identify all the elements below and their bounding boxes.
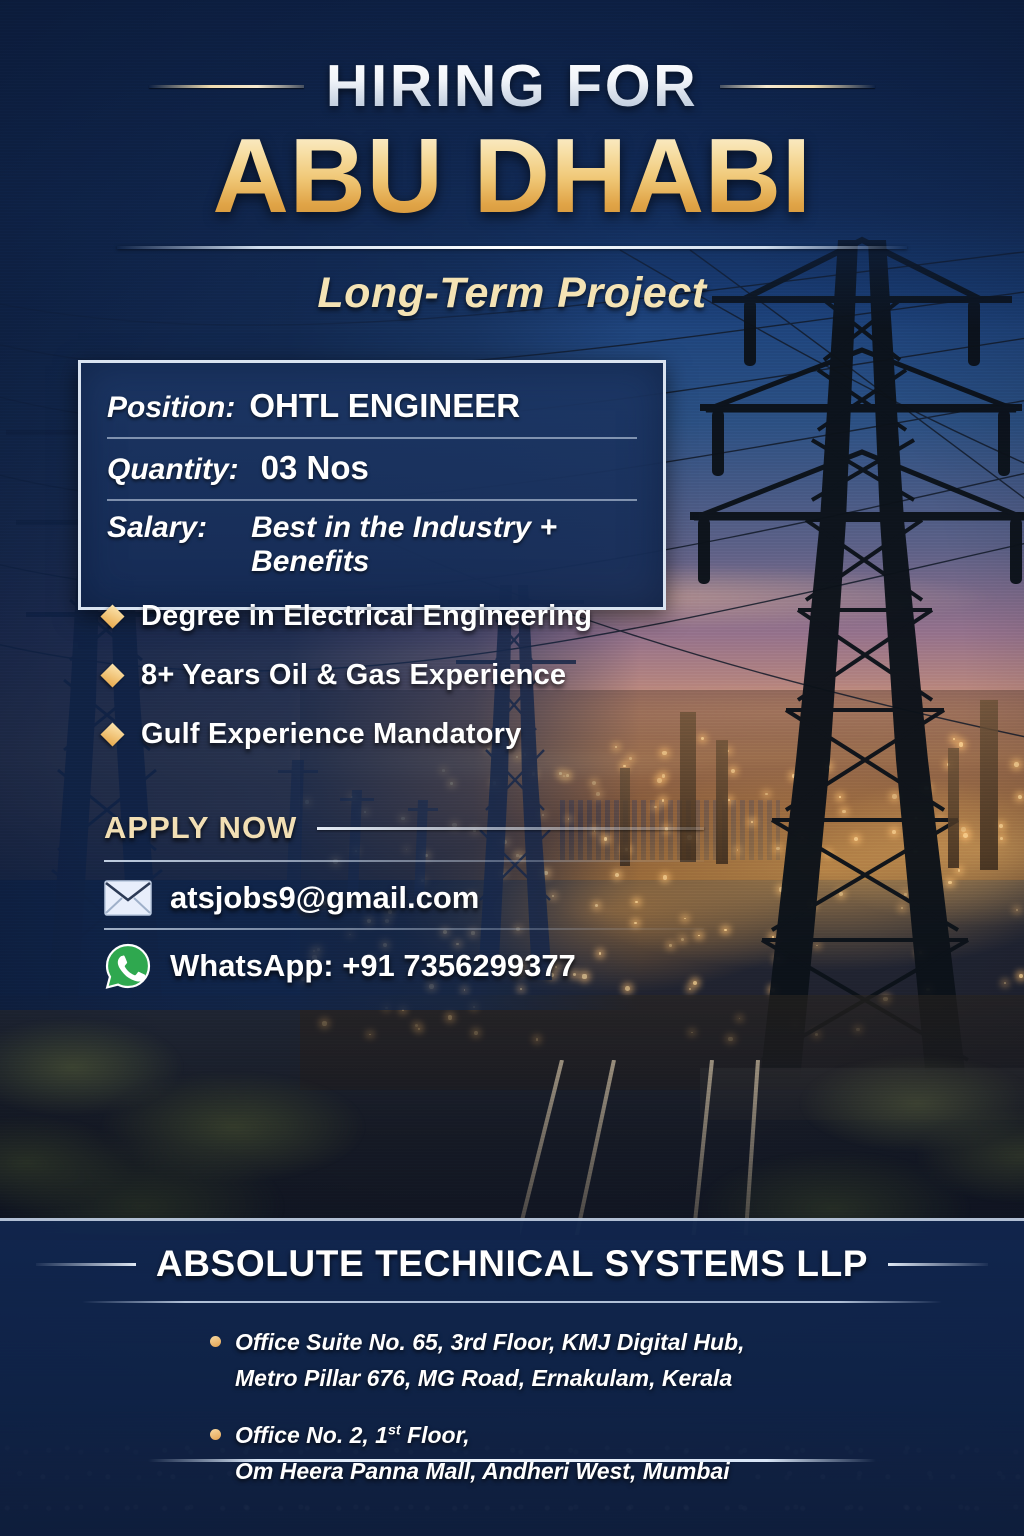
- apply-dash: [317, 827, 704, 830]
- address-list: Office Suite No. 65, 3rd Floor, KMJ Digi…: [0, 1325, 1024, 1490]
- email-address: atsjobs9@gmail.com: [170, 880, 479, 916]
- position-value: OHTL ENGINEER: [249, 387, 520, 425]
- footer-bottom-divider: [148, 1459, 876, 1462]
- requirement-item: Degree in Electrical Engineering: [104, 600, 624, 633]
- contact-list: atsjobs9@gmail.com WhatsApp: +91 7356299…: [104, 880, 704, 990]
- envelope-icon: [104, 880, 152, 916]
- contact-email-row[interactable]: atsjobs9@gmail.com: [104, 880, 704, 916]
- location-title: ABU DHABI: [0, 122, 1024, 230]
- requirement-text: 8+ Years Oil & Gas Experience: [141, 659, 566, 692]
- apply-section: APPLY NOW atsjobs9@gmail.com: [104, 810, 704, 1002]
- dot-bullet-icon: [210, 1336, 221, 1347]
- detail-row-quantity: Quantity: 03 Nos: [107, 437, 637, 499]
- address-item-kerala: Office Suite No. 65, 3rd Floor, KMJ Digi…: [210, 1325, 1024, 1396]
- address-line-1: Office Suite No. 65, 3rd Floor, KMJ Digi…: [235, 1325, 744, 1361]
- dot-bullet-icon: [210, 1429, 221, 1440]
- company-dash-left: [36, 1263, 136, 1266]
- hiring-label: HIRING FOR: [326, 52, 698, 120]
- job-poster: HIRING FOR ABU DHABI Long-Term Project P…: [0, 0, 1024, 1536]
- company-dash-right: [888, 1263, 988, 1266]
- address-line-1-pre: Office No. 2, 1: [235, 1422, 388, 1448]
- address-line-2: Metro Pillar 676, MG Road, Ernakulam, Ke…: [235, 1365, 732, 1391]
- position-label: Position:: [107, 391, 235, 425]
- project-subtitle: Long-Term Project: [0, 269, 1024, 318]
- address-line-1: Office No. 2, 1st Floor,: [235, 1418, 470, 1454]
- hiring-dash-right: [720, 85, 875, 88]
- diamond-bullet-icon: [100, 604, 124, 628]
- detail-row-salary: Salary: Best in the Industry + Benefits: [107, 499, 637, 591]
- quantity-label: Quantity:: [107, 453, 239, 487]
- apply-now-title: APPLY NOW: [104, 810, 297, 846]
- address-line-1-post: Floor,: [401, 1422, 470, 1448]
- header-divider: [117, 246, 907, 249]
- contact-whatsapp-row[interactable]: WhatsApp: +91 7356299377: [104, 942, 704, 990]
- diamond-bullet-icon: [100, 663, 124, 687]
- detail-row-position: Position: OHTL ENGINEER: [107, 377, 637, 437]
- requirements-list: Degree in Electrical Engineering 8+ Year…: [104, 600, 624, 777]
- requirement-item: Gulf Experience Mandatory: [104, 718, 624, 751]
- quantity-value: 03 Nos: [261, 449, 369, 487]
- whatsapp-icon: [104, 942, 152, 990]
- address-item-mumbai: Office No. 2, 1st Floor, Om Heera Panna …: [210, 1418, 1024, 1489]
- requirement-text: Degree in Electrical Engineering: [141, 600, 592, 633]
- diamond-bullet-icon: [100, 722, 124, 746]
- position-details-box: Position: OHTL ENGINEER Quantity: 03 Nos…: [78, 360, 666, 610]
- requirement-text: Gulf Experience Mandatory: [141, 718, 522, 751]
- salary-label: Salary:: [107, 511, 207, 545]
- company-divider: [82, 1301, 942, 1303]
- whatsapp-number: WhatsApp: +91 7356299377: [170, 948, 576, 984]
- poster-footer: ABSOLUTE TECHNICAL SYSTEMS LLP Office Su…: [0, 1218, 1024, 1536]
- requirement-item: 8+ Years Oil & Gas Experience: [104, 659, 624, 692]
- contact-divider: [104, 928, 704, 930]
- salary-value: Best in the Industry + Benefits: [251, 511, 637, 579]
- poster-header: HIRING FOR ABU DHABI Long-Term Project: [0, 52, 1024, 318]
- company-name: ABSOLUTE TECHNICAL SYSTEMS LLP: [156, 1243, 868, 1285]
- apply-divider: [104, 860, 704, 862]
- address-ordinal-suffix: st: [388, 1423, 401, 1439]
- hiring-dash-left: [149, 85, 304, 88]
